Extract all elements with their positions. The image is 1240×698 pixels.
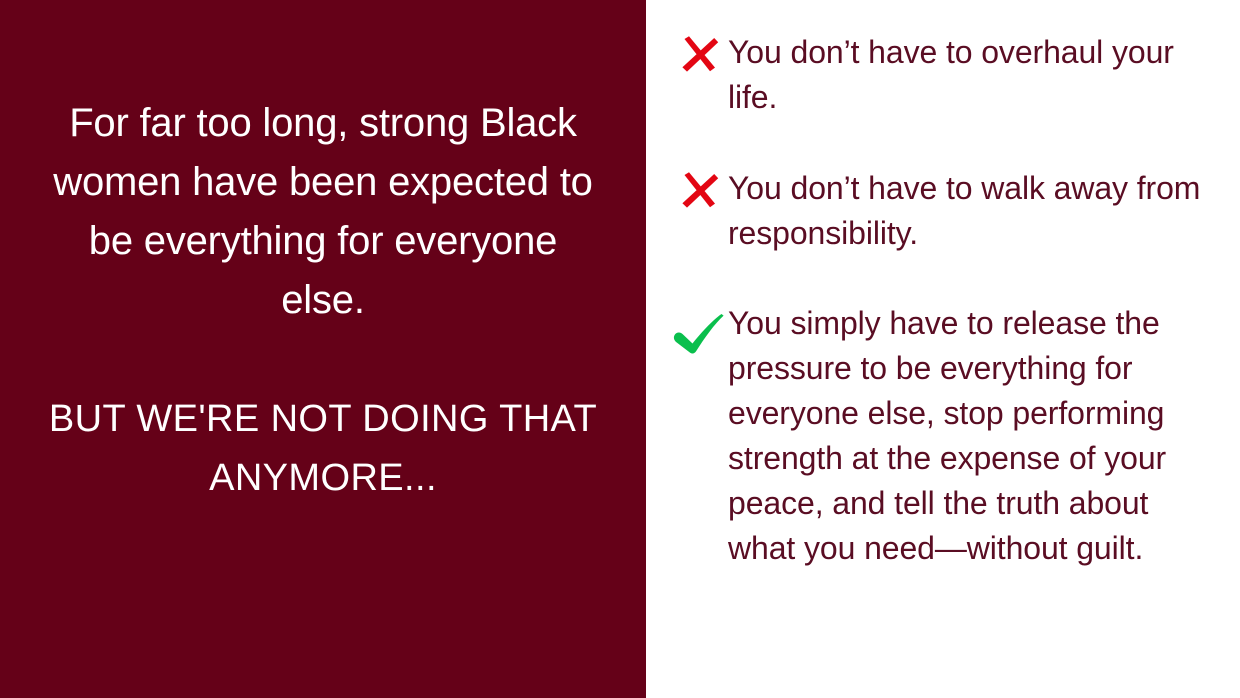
list-item-label: You don’t have to walk away from respons…: [728, 165, 1204, 256]
left-quote-text: For far too long, strong Black women hav…: [42, 94, 604, 330]
cross-icon: [670, 165, 728, 217]
list-item: You don’t have to walk away from respons…: [670, 165, 1204, 256]
list-item: You simply have to release the pressure …: [670, 300, 1204, 571]
check-icon: [670, 300, 728, 352]
right-bullets-panel: You don’t have to overhaul your life. Yo…: [646, 0, 1240, 698]
left-quote-panel: For far too long, strong Black women hav…: [0, 0, 646, 698]
list-item-label: You simply have to release the pressure …: [728, 300, 1204, 571]
cross-icon: [670, 29, 728, 81]
list-item: You don’t have to overhaul your life.: [670, 29, 1204, 120]
left-kicker-text: BUT WE'RE NOT DOING THAT ANYMORE...: [42, 390, 604, 508]
slide-canvas: For far too long, strong Black women hav…: [0, 0, 1240, 698]
list-item-label: You don’t have to overhaul your life.: [728, 29, 1204, 120]
